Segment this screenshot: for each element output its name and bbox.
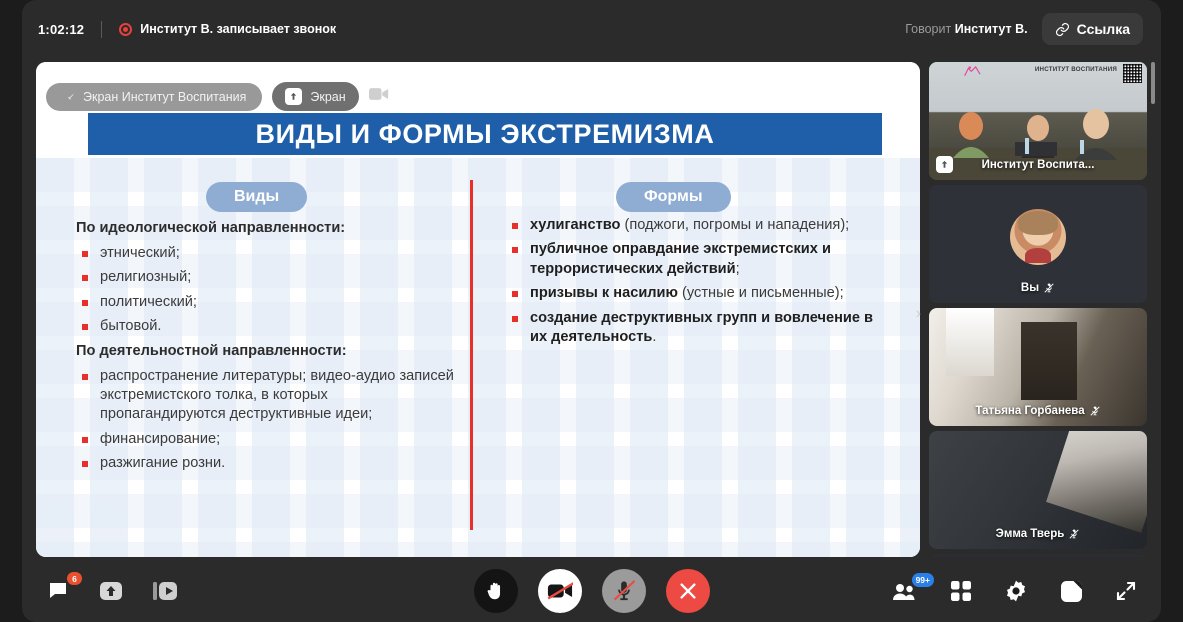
left-heading-1: По идеологической направленности: xyxy=(76,220,454,236)
active-speaker-name: Институт В. xyxy=(955,22,1028,36)
list-item: публичное оправдание экстремистских и те… xyxy=(506,240,891,279)
thumbnail-label: Вы xyxy=(929,282,1147,294)
raise-hand-icon xyxy=(485,580,507,602)
thumbnail-emma-tver[interactable]: Эмма Тверь xyxy=(929,431,1147,549)
thumbnail-name-text: Вы xyxy=(1021,282,1039,294)
upload-button[interactable] xyxy=(99,580,123,602)
list-item: политический; xyxy=(76,293,454,312)
camera-off-icon xyxy=(547,581,573,601)
screen-owner-label: Экран Институт Воспитания xyxy=(83,90,246,104)
list-item-bold: создание деструктивных групп и вовлечени… xyxy=(530,310,873,345)
logo-institute: ИНСТИТУТ ИЗУЧЕНИЯ ДЕТСТВА, СЕМЬИ И ВОСПИ… xyxy=(754,556,835,557)
mic-off-icon xyxy=(613,579,635,603)
close-icon xyxy=(677,580,699,602)
screen-badge[interactable]: Экран xyxy=(272,82,358,111)
controls-center-group xyxy=(474,560,710,622)
layout-grid-button[interactable] xyxy=(950,580,972,602)
chair-icon xyxy=(754,556,769,557)
thumbnail-name-text: Институт Воспита... xyxy=(982,159,1095,171)
meeting-controls-bar: 6 xyxy=(22,560,1161,622)
active-speaker-label: Говорит Институт В. xyxy=(905,22,1027,36)
mic-muted-icon xyxy=(1089,405,1101,417)
media-player-icon xyxy=(152,580,178,602)
slide-left-column: По идеологической направленности: этниче… xyxy=(76,216,454,480)
flag-icon xyxy=(285,88,302,105)
list-item: финансирование; xyxy=(76,430,454,449)
chat-icon xyxy=(46,579,70,603)
participants-count-badge: 99+ xyxy=(912,573,934,587)
active-speaker-prefix: Говорит xyxy=(905,22,954,36)
left-list-2: распространение литературы; видео-аудио … xyxy=(76,367,454,474)
list-item-rest: ; xyxy=(736,261,740,277)
left-heading-2: По деятельностной направленности: xyxy=(76,343,454,359)
right-list: хулиганство (поджоги, погромы и нападени… xyxy=(506,216,891,347)
record-dot-icon xyxy=(119,23,132,36)
header-left-group: 1:02:12 Институт В. записывает звонок xyxy=(22,21,336,38)
upload-icon xyxy=(99,580,123,602)
shared-screen-viewport[interactable]: ВИДЫ И ФОРМЫ ЭКСТРЕМИЗМА Виды Формы По и… xyxy=(36,62,920,557)
list-item-bold: призывы к насилию xyxy=(530,285,678,301)
screen-owner-badge[interactable]: Экран Институт Воспитания xyxy=(46,83,262,111)
list-item: хулиганство (поджоги, погромы и нападени… xyxy=(506,216,891,235)
meeting-header: 1:02:12 Институт В. записывает звонок Го… xyxy=(22,0,1161,58)
thumbnail-next-partial[interactable] xyxy=(929,554,1147,557)
slide-title-bar: ВИДЫ И ФОРМЫ ЭКСТРЕМИЗМА xyxy=(88,113,882,155)
call-timer: 1:02:12 xyxy=(38,22,84,37)
raise-hand-button[interactable] xyxy=(474,569,518,613)
participants-thumbnail-strip[interactable]: ИНСТИТУТ ВОСПИТАНИЯ xyxy=(929,62,1147,557)
thumbnail-scrollbar-track[interactable] xyxy=(1151,62,1155,557)
camera-toggle-button[interactable] xyxy=(538,569,582,613)
controls-left-group: 6 xyxy=(46,560,178,622)
meeting-app-window: 1:02:12 Институт В. записывает звонок Го… xyxy=(0,0,1183,622)
leave-call-button[interactable] xyxy=(666,569,710,613)
recording-label: Институт В. записывает звонок xyxy=(140,22,336,36)
list-item: призывы к насилию (устные и письменные); xyxy=(506,284,891,303)
window-left-gutter xyxy=(0,0,22,622)
layout-grid-icon xyxy=(950,580,972,602)
sidebar-panel-button[interactable] xyxy=(1060,580,1083,603)
avatar xyxy=(1010,209,1066,265)
list-item-rest: (устные и письменные); xyxy=(678,285,844,301)
controls-right-group: 99+ xyxy=(892,560,1137,622)
flag-glyph-icon xyxy=(288,91,299,102)
header-right-group: Говорит Институт В. Ссылка xyxy=(905,13,1161,45)
list-item-bold: публичное оправдание экстремистских и те… xyxy=(530,241,831,276)
recording-indicator: Институт В. записывает звонок xyxy=(119,22,336,36)
thumbnail-tatyana-gorbaneva[interactable]: Татьяна Горбанева xyxy=(929,308,1147,426)
thumbnail-name-text: Татьяна Горбанева xyxy=(975,405,1084,417)
thumbnail-label: Эмма Тверь xyxy=(929,528,1147,540)
fullscreen-button[interactable] xyxy=(1115,580,1137,602)
list-item: создание деструктивных групп и вовлечени… xyxy=(506,309,891,348)
chat-unread-badge: 6 xyxy=(67,572,82,585)
list-item: бытовой. xyxy=(76,317,454,336)
list-item: этнический; xyxy=(76,244,454,263)
copy-link-button[interactable]: Ссылка xyxy=(1042,13,1143,45)
list-item: разжигание розни. xyxy=(76,454,454,473)
sidebar-panel-icon xyxy=(1060,580,1083,603)
thumbnail-institut-vospitaniya[interactable]: ИНСТИТУТ ВОСПИТАНИЯ xyxy=(929,62,1147,180)
link-icon xyxy=(1055,22,1070,37)
media-player-button[interactable] xyxy=(152,580,178,602)
thumbnail-scrollbar-thumb[interactable] xyxy=(1151,62,1155,104)
screen-badge-label: Экран xyxy=(310,90,345,104)
left-list-1: этнический; религиозный; политический; б… xyxy=(76,244,454,337)
thumbnails-next-arrow-icon[interactable]: › xyxy=(916,305,921,323)
slide-pill-formy: Формы xyxy=(616,182,731,212)
pin-icon xyxy=(62,90,75,103)
screen-share-badges: Экран Институт Воспитания Экран xyxy=(46,82,389,111)
slide-footer-logos: ◢ Центр гармонизации межнациональных и м… xyxy=(648,556,920,557)
list-item-bold: хулиганство xyxy=(530,217,620,233)
thumbnail-label: Татьяна Горбанева xyxy=(929,405,1147,417)
window-right-gutter xyxy=(1161,0,1183,622)
chat-button[interactable]: 6 xyxy=(46,579,70,603)
slide-column-divider xyxy=(470,180,473,530)
settings-button[interactable] xyxy=(1004,579,1028,603)
microphone-toggle-button[interactable] xyxy=(602,569,646,613)
presentation-slide: ВИДЫ И ФОРМЫ ЭКСТРЕМИЗМА Виды Формы По и… xyxy=(36,62,920,557)
settings-gear-icon xyxy=(1004,579,1028,603)
slide-title: ВИДЫ И ФОРМЫ ЭКСТРЕМИЗМА xyxy=(256,119,715,150)
list-item: религиозный; xyxy=(76,268,454,287)
copy-link-label: Ссылка xyxy=(1077,21,1130,37)
list-item-rest: (поджоги, погромы и нападения); xyxy=(620,217,849,233)
mic-muted-icon xyxy=(1043,282,1055,294)
meeting-stage: 1:02:12 Институт В. записывает звонок Го… xyxy=(22,0,1161,622)
slide-pill-vidy: Виды xyxy=(206,182,307,212)
camera-icon xyxy=(369,87,389,101)
list-item-rest: . xyxy=(652,329,656,345)
screen-camera-icon[interactable] xyxy=(369,87,389,106)
thumbnail-label: Институт Воспита... xyxy=(929,159,1147,171)
mic-muted-icon xyxy=(1068,528,1080,540)
list-item: распространение литературы; видео-аудио … xyxy=(76,367,454,425)
thumbnail-you[interactable]: Вы xyxy=(929,185,1147,303)
participants-button[interactable]: 99+ xyxy=(892,581,918,601)
fullscreen-icon xyxy=(1115,580,1137,602)
thumbnail-name-text: Эмма Тверь xyxy=(996,528,1065,540)
slide-right-column: хулиганство (поджоги, погромы и нападени… xyxy=(506,216,891,353)
header-divider xyxy=(101,21,102,38)
